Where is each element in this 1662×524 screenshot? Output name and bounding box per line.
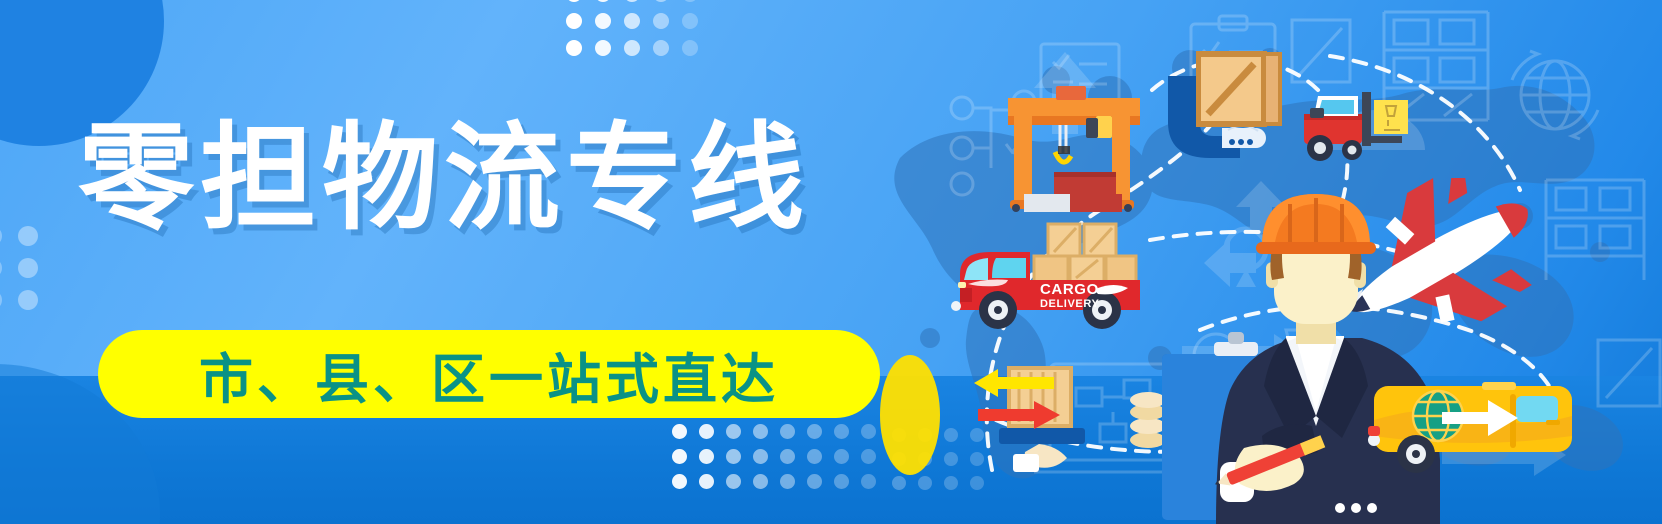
subtitle-pill[interactable]: 市、县、区一站式直达: [98, 330, 880, 418]
wooden-crate-icon: [1196, 50, 1282, 130]
truck-cargo-label-line2: DELIVERY: [1040, 298, 1099, 310]
yellow-accent-ellipse: [880, 355, 940, 475]
banner-headline: 零担物流专线: [78, 118, 810, 240]
delivery-van-icon: [1360, 368, 1590, 488]
cargo-truck-icon: CARGO DELIVERY: [930, 222, 1142, 332]
arrow-left-yellow-icon: [972, 368, 1056, 398]
subtitle-text: 市、县、区一站式直达: [199, 335, 779, 414]
dot-grid-bottom: [672, 424, 876, 489]
arrow-right-red-icon: [976, 400, 1062, 430]
truck-cargo-label-line1: CARGO: [1040, 281, 1099, 298]
shipping-containers-icon: [1018, 168, 1128, 216]
forklift-icon: [1300, 86, 1456, 166]
logistics-banner: AIR FREIGHT CARGO D: [0, 0, 1662, 524]
dot-grid-top: [566, 0, 698, 56]
dot-grid-left: [0, 226, 38, 310]
